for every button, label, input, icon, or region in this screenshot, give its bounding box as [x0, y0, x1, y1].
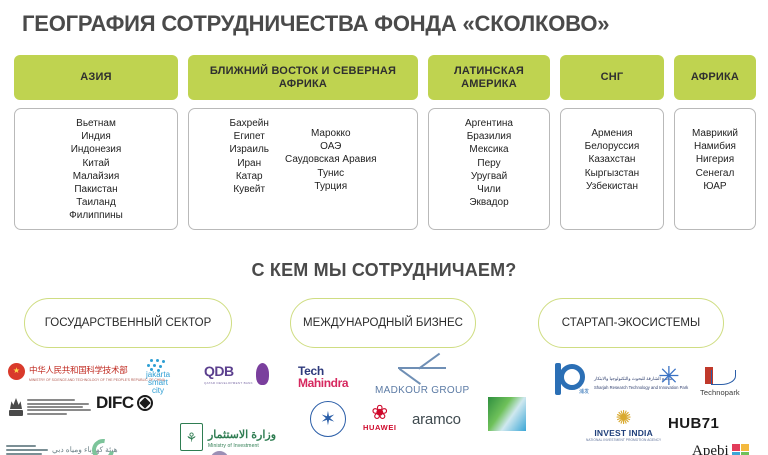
- dewa-mark-icon: [6, 445, 48, 455]
- hub71-label: HUB71: [668, 415, 719, 432]
- country-item: Египет: [234, 130, 265, 143]
- region-header-latin-america[interactable]: ЛАТИНСКАЯ АМЕРИКА: [428, 55, 550, 100]
- green-swirl-icon: [88, 435, 119, 455]
- country-item: ОАЭ: [320, 140, 341, 153]
- green-blue-square-logo: [488, 397, 526, 431]
- partner-pill-startup[interactable]: СТАРТАП-ЭКОСИСТЕМЫ: [538, 298, 724, 348]
- blue-p-label: 浦发: [579, 388, 589, 395]
- country-item: Кувейт: [233, 183, 265, 196]
- region-title-latin-america: ЛАТИНСКАЯ АМЕРИКА: [434, 65, 544, 91]
- country-item: Сенегал: [696, 167, 735, 180]
- invest-india-logo: ✺ INVEST INDIA NATIONAL INVESTMENT PROMO…: [586, 409, 661, 442]
- partner-logos-cloud: 中华人民共和国科学技术部 MINISTRY OF SCIENCE AND TEC…: [0, 355, 768, 455]
- blue-p-icon: [552, 363, 576, 395]
- invest-india-label: INVEST INDIA: [594, 428, 653, 438]
- country-item: Израиль: [229, 143, 269, 156]
- china-most-label: 中华人民共和国科学技术部: [29, 365, 127, 375]
- partner-label-business: МЕЖДУНАРОДНЫЙ БИЗНЕС: [303, 316, 463, 330]
- regions-grid: АЗИЯ Вьетнам Индия Индонезия Китай Малай…: [0, 55, 768, 245]
- region-header-cis[interactable]: СНГ: [560, 55, 664, 100]
- region-country-list-asia: Вьетнам Индия Индонезия Китай Малайзия П…: [14, 108, 178, 230]
- country-item: Марокко: [311, 127, 351, 140]
- saudi-emblem-icon: ⚘: [180, 423, 203, 451]
- country-item: Турция: [314, 180, 347, 193]
- tech-mahindra-line2: Mahindra: [298, 377, 348, 390]
- region-title-mena: БЛИЖНИЙ ВОСТОК И СЕВЕРНАЯ АФРИКА: [194, 65, 412, 91]
- country-item: Чили: [477, 183, 501, 196]
- apebi-mark-icon: [732, 444, 750, 455]
- tech-mahindra-logo: Tech Mahindra: [298, 365, 348, 390]
- invest-india-sun-icon: ✺: [616, 409, 632, 428]
- partner-group-government: ГОСУДАРСТВЕННЫЙ СЕКТОР: [24, 298, 232, 348]
- qatar-financial-centre-logo: مركز قطر للمال Qatar Financial Centre: [210, 449, 275, 455]
- huawei-flower-icon: ❀: [371, 403, 388, 423]
- aramco-logo: aramco: [412, 411, 461, 428]
- region-title-africa: АФРИКА: [691, 71, 739, 84]
- qdb-label: QDB: [204, 363, 234, 379]
- apebi-logo: Apebi: [692, 443, 750, 455]
- country-item: Узбекистан: [586, 180, 638, 193]
- region-card-latin-america: ЛАТИНСКАЯ АМЕРИКА Аргентина Бразилия Мек…: [428, 55, 550, 230]
- invest-india-sublabel: NATIONAL INVESTMENT PROMOTION AGENCY: [586, 438, 661, 442]
- country-column: Марокко ОАЭ Саудовская Аравия Тунис Турц…: [285, 117, 377, 193]
- country-item: Нигерия: [696, 153, 734, 166]
- blue-asterisk-logo: ✳: [658, 363, 680, 389]
- country-item: Казахстан: [589, 153, 636, 166]
- aramco-label: aramco: [412, 411, 461, 428]
- region-country-list-cis: Армения Белоруссия Казахстан Кыргызстан …: [560, 108, 664, 230]
- china-most-sublabel: MINISTRY OF SCIENCE AND TECHNOLOGY OF TH…: [29, 378, 165, 382]
- india-text-placeholder: [27, 399, 91, 415]
- madkour-group-logo: MADKOUR GROUP: [375, 367, 469, 396]
- region-header-mena[interactable]: БЛИЖНИЙ ВОСТОК И СЕВЕРНАЯ АФРИКА: [188, 55, 418, 100]
- blue-p-logo: 浦发: [552, 363, 589, 395]
- china-most-logo: 中华人民共和国科学技术部 MINISTRY OF SCIENCE AND TEC…: [8, 360, 165, 382]
- moi-arabic-label: وزارة الاستثمار: [208, 429, 276, 441]
- country-item: Армения: [591, 127, 632, 140]
- country-column: Армения Белоруссия Казахстан Кыргызстан …: [585, 117, 640, 193]
- partner-label-government: ГОСУДАРСТВЕННЫЙ СЕКТОР: [45, 316, 212, 330]
- country-item: Уругвай: [471, 170, 507, 183]
- country-item: Маврикий: [692, 127, 738, 140]
- difc-label: DIFC: [96, 393, 134, 413]
- region-country-list-mena: Бахрейн Египет Израиль Иран Катар Кувейт…: [188, 108, 418, 230]
- green-blue-square-icon: [488, 397, 526, 431]
- country-item: Малайзия: [73, 170, 120, 183]
- country-column: Аргентина Бразилия Мексика Перу Уругвай …: [465, 117, 513, 209]
- apebi-label: Apebi: [692, 443, 729, 455]
- region-country-list-africa: Маврикий Намибия Нигерия Сенегал ЮАР: [674, 108, 756, 230]
- china-emblem-icon: [8, 363, 25, 380]
- region-title-cis: СНГ: [601, 71, 624, 84]
- region-country-list-latin-america: Аргентина Бразилия Мексика Перу Уругвай …: [428, 108, 550, 230]
- region-card-mena: БЛИЖНИЙ ВОСТОК И СЕВЕРНАЯ АФРИКА Бахрейн…: [188, 55, 418, 230]
- country-item: Таиланд: [76, 196, 116, 209]
- region-header-asia[interactable]: АЗИЯ: [14, 55, 178, 100]
- country-item: Китай: [82, 157, 109, 170]
- page-title: ГЕОГРАФИЯ СОТРУДНИЧЕСТВА ФОНДА «СКОЛКОВО…: [22, 11, 609, 37]
- qfc-mark-icon: [210, 451, 229, 455]
- blue-circle-icon: ✶: [310, 401, 346, 437]
- partner-label-startup: СТАРТАП-ЭКОСИСТЕМЫ: [562, 316, 700, 330]
- india-emblem-icon: [8, 397, 24, 417]
- difc-diamond-icon: [137, 395, 153, 411]
- country-column: Бахрейн Египет Израиль Иран Катар Кувейт: [229, 117, 269, 196]
- blue-circle-emblem-logo: ✶: [310, 401, 346, 437]
- jakarta-line3: city: [152, 387, 164, 395]
- difc-logo: DIFC: [96, 393, 153, 413]
- country-item: Филиппины: [69, 209, 123, 222]
- partner-pill-government[interactable]: ГОСУДАРСТВЕННЫЙ СЕКТОР: [24, 298, 232, 348]
- country-item: Эквадор: [469, 196, 508, 209]
- partner-group-business: МЕЖДУНАРОДНЫЙ БИЗНЕС: [290, 298, 476, 348]
- technopark-mark-icon: [705, 367, 735, 387]
- madkour-roof-icon: [398, 367, 446, 384]
- region-card-cis: СНГ Армения Белоруссия Казахстан Кыргызс…: [560, 55, 664, 230]
- qdb-sublabel: QATAR DEVELOPMENT BANK: [204, 381, 253, 385]
- qdb-mark-icon: [256, 363, 269, 385]
- country-item: Катар: [236, 170, 263, 183]
- country-item: Иран: [237, 157, 261, 170]
- hub71-logo: HUB71: [668, 415, 719, 432]
- country-item: Перу: [477, 157, 500, 170]
- slide-root: ГЕОГРАФИЯ СОТРУДНИЧЕСТВА ФОНДА «СКОЛКОВО…: [0, 0, 768, 455]
- region-title-asia: АЗИЯ: [80, 71, 111, 84]
- region-card-asia: АЗИЯ Вьетнам Индия Индонезия Китай Малай…: [14, 55, 178, 230]
- blue-asterisk-icon: ✳: [658, 363, 680, 389]
- madkour-label: MADKOUR GROUP: [375, 385, 469, 396]
- country-item: Бразилия: [467, 130, 512, 143]
- technopark-logo: Technopark: [700, 367, 740, 397]
- india-government-logo: [8, 397, 91, 417]
- country-item: Тунис: [317, 167, 344, 180]
- country-item: Пакистан: [74, 183, 117, 196]
- region-card-africa: АФРИКА Маврикий Намибия Нигерия Сенегал …: [674, 55, 756, 230]
- saudi-ministry-of-investment-logo: ⚘ وزارة الاستثمار Ministry of Investment: [180, 423, 276, 451]
- country-item: Белоруссия: [585, 140, 640, 153]
- country-item: Вьетнам: [76, 117, 116, 130]
- country-item: Кыргызстан: [585, 167, 639, 180]
- country-item: Индия: [81, 130, 111, 143]
- technopark-label: Technopark: [700, 388, 740, 397]
- country-item: Аргентина: [465, 117, 513, 130]
- partner-pill-business[interactable]: МЕЖДУНАРОДНЫЙ БИЗНЕС: [290, 298, 476, 348]
- country-item: Индонезия: [71, 143, 122, 156]
- partners-section-title: С КЕМ МЫ СОТРУДНИЧАЕМ?: [0, 260, 768, 281]
- jakarta-smart-city-logo: jakarta smart city: [146, 359, 170, 395]
- country-column: Маврикий Намибия Нигерия Сенегал ЮАР: [692, 117, 738, 193]
- region-header-africa[interactable]: АФРИКА: [674, 55, 756, 100]
- jakarta-dots-icon: [147, 359, 169, 371]
- country-item: Саудовская Аравия: [285, 153, 377, 166]
- country-item: Бахрейн: [230, 117, 269, 130]
- country-item: ЮАР: [703, 180, 726, 193]
- country-column: Вьетнам Индия Индонезия Китай Малайзия П…: [69, 117, 123, 223]
- partner-group-startup: СТАРТАП-ЭКОСИСТЕМЫ: [538, 298, 724, 348]
- country-item: Намибия: [694, 140, 736, 153]
- qdb-logo: QDB QATAR DEVELOPMENT BANK: [204, 363, 269, 385]
- huawei-logo: ❀ HUAWEI: [363, 403, 397, 432]
- country-item: Мексика: [469, 143, 508, 156]
- green-swirl-logo: [92, 439, 114, 455]
- huawei-label: HUAWEI: [363, 423, 397, 432]
